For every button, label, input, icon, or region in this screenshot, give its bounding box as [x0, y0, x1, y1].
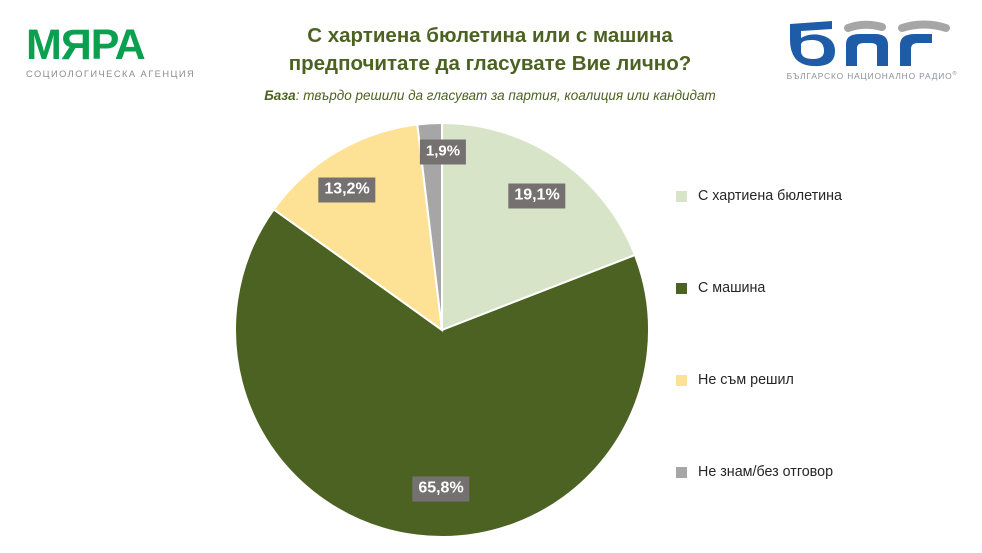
pie-data-label: 19,1% [508, 184, 565, 209]
slide-canvas: МЯРА СОЦИОЛОГИЧЕСКА АГЕНЦИЯ С хартиена б… [0, 0, 982, 553]
legend-label-machine: С машина [698, 280, 765, 296]
legend-swatch-machine [676, 283, 687, 294]
pie-data-label: 65,8% [412, 477, 469, 502]
legend-item-paper-ballot[interactable]: С хартиена бюлетина [676, 150, 966, 242]
myara-wordmark: МЯРА [26, 24, 216, 67]
bnr-tagline: БЪЛГАРСКО НАЦИОНАЛНО РАДИО® [780, 71, 964, 81]
bnr-logo-icon: БЪЛГАРСКО НАЦИОНАЛНО РАДИО® [780, 18, 964, 90]
pie-data-label: 13,2% [318, 178, 375, 203]
legend-swatch-undecided [676, 375, 687, 386]
legend-swatch-paper-ballot [676, 191, 687, 202]
page-title: С хартиена бюлетина или с машина предпоч… [200, 22, 780, 78]
legend-item-undecided[interactable]: Не съм решил [676, 334, 966, 426]
pie-slice-group [235, 123, 649, 537]
title-block: С хартиена бюлетина или с машина предпоч… [200, 22, 780, 105]
legend-label-undecided: Не съм решил [698, 372, 794, 388]
myara-tagline: СОЦИОЛОГИЧЕСКА АГЕНЦИЯ [26, 69, 216, 79]
legend-swatch-no-answer [676, 467, 687, 478]
subtitle-text: : твърдо решили да гласуват за партия, к… [296, 88, 716, 103]
subtitle-base-label: База [264, 88, 295, 103]
chart-legend: С хартиена бюлетина С машина Не съм реши… [676, 150, 966, 518]
legend-item-no-answer[interactable]: Не знам/без отговор [676, 426, 966, 518]
legend-item-machine[interactable]: С машина [676, 242, 966, 334]
myara-logo-icon: МЯРА СОЦИОЛОГИЧЕСКА АГЕНЦИЯ [26, 24, 216, 86]
legend-label-no-answer: Не знам/без отговор [698, 464, 833, 480]
page-subtitle: База: твърдо решили да гласуват за парти… [200, 87, 780, 105]
registered-mark-icon: ® [952, 71, 957, 77]
pie-data-label: 1,9% [420, 140, 466, 165]
legend-label-paper-ballot: С хартиена бюлетина [698, 188, 842, 204]
bnr-tagline-text: БЪЛГАРСКО НАЦИОНАЛНО РАДИО [787, 71, 953, 81]
bnr-mark-icon [780, 18, 964, 70]
